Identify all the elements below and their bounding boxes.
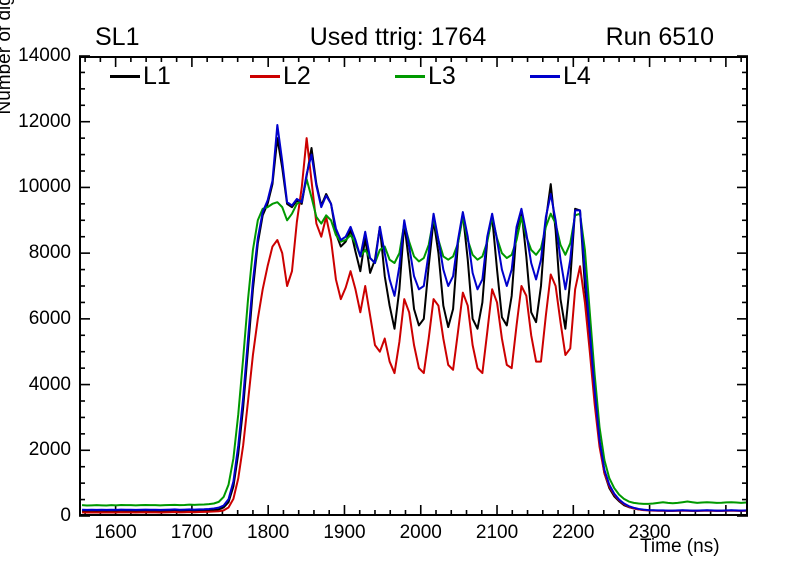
legend-label: L3 [428,62,456,90]
legend-swatch-l4 [530,75,560,78]
legend-label: L4 [563,62,591,90]
x-tick-label: 1600 [76,522,156,544]
y-tick-label: 4000 [0,374,71,396]
y-tick-label: 8000 [0,242,71,264]
x-tick-label: 2200 [533,522,613,544]
x-tick-label: 2100 [457,522,537,544]
x-tick-label: 2000 [381,522,461,544]
legend: L1L2L3L4 [110,60,610,92]
y-tick-label: 10000 [0,176,71,198]
y-tick-label: 12000 [0,111,71,133]
legend-entry-l4[interactable]: L4 [530,60,591,92]
x-tick-label: 1900 [304,522,384,544]
x-tick-label: 2300 [610,522,690,544]
legend-swatch-l3 [395,75,425,78]
y-tick-label: 14000 [0,45,71,67]
y-tick-label: 6000 [0,308,71,330]
x-tick-label: 1700 [152,522,232,544]
pad-title-right: Run 6510 [606,22,714,52]
legend-label: L1 [143,62,171,90]
legend-entry-l2[interactable]: L2 [250,60,311,92]
y-tick-label: 0 [0,505,71,527]
legend-entry-l1[interactable]: L1 [110,60,171,92]
legend-swatch-l1 [110,75,140,78]
root-canvas: SL1 Used ttrig: 1764 Run 6510 Number of … [0,0,796,572]
plot-frame [79,56,748,516]
x-tick-label: 1800 [228,522,308,544]
legend-entry-l3[interactable]: L3 [395,60,456,92]
y-tick-label: 2000 [0,439,71,461]
legend-swatch-l2 [250,75,280,78]
legend-label: L2 [283,62,311,90]
y-axis-title: Number of digis [0,0,16,158]
